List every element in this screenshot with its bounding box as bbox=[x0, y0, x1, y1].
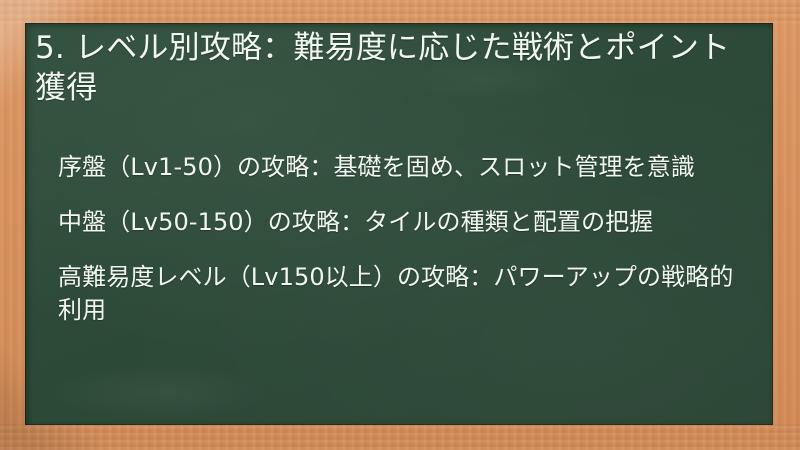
slide-title: 5. レベル別攻略：難易度に応じた戦術とポイント獲得 bbox=[35, 28, 741, 109]
bullet-list: 序盤（Lv1-50）の攻略：基礎を固め、スロット管理を意識 中盤（Lv50-15… bbox=[58, 151, 748, 327]
wood-frame-top-grain bbox=[0, 0, 800, 24]
list-item: 序盤（Lv1-50）の攻略：基礎を固め、スロット管理を意識 bbox=[58, 151, 748, 184]
list-item: 中盤（Lv50-150）の攻略：タイルの種類と配置の把握 bbox=[58, 206, 748, 239]
wood-frame-bottom-grain bbox=[0, 424, 800, 450]
chalkboard-slide: 5. レベル別攻略：難易度に応じた戦術とポイント獲得 序盤（Lv1-50）の攻略… bbox=[0, 0, 800, 450]
chalkboard-surface: 5. レベル別攻略：難易度に応じた戦術とポイント獲得 序盤（Lv1-50）の攻略… bbox=[25, 23, 773, 425]
list-item: 高難易度レベル（Lv150以上）の攻略：パワーアップの戦略的利用 bbox=[58, 261, 748, 327]
